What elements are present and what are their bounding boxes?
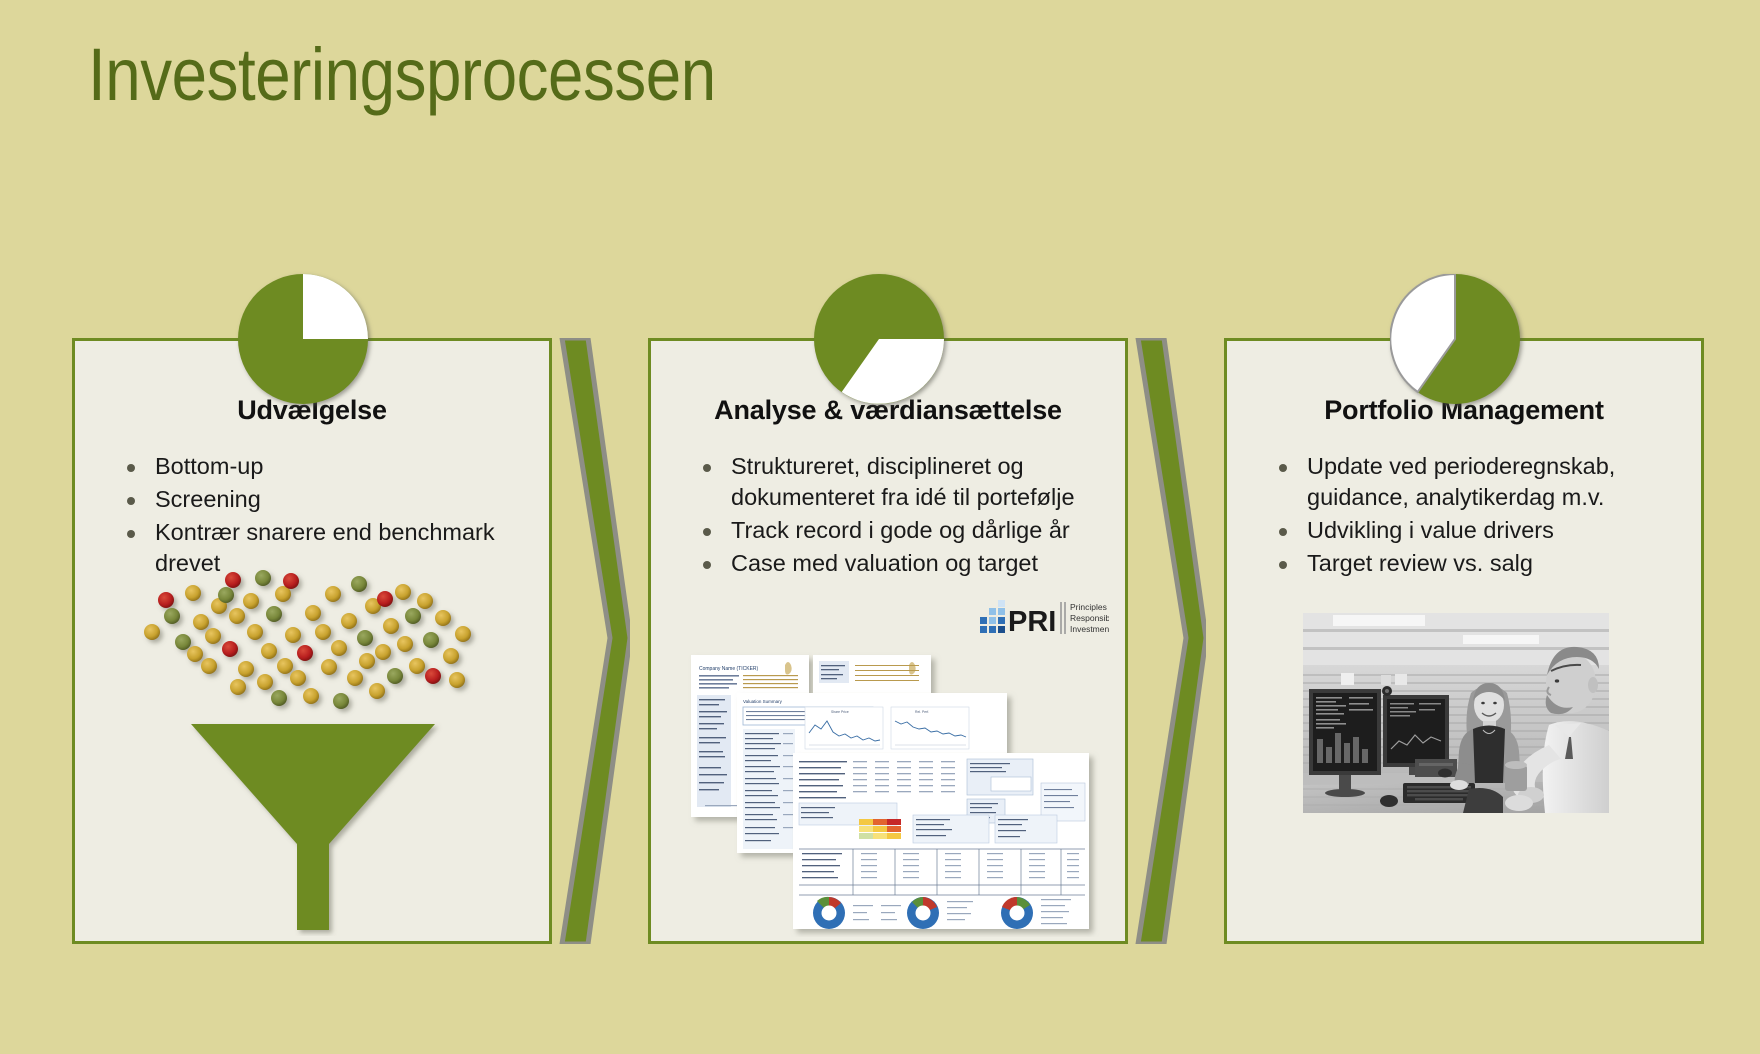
stage-pie-udvaelgelse [238, 274, 368, 404]
slide-canvas: Investeringsprocessen Udvælgelse Bottom-… [0, 0, 1760, 1054]
process-panel-analyse: Analyse & værdiansættelse Struktureret, … [648, 338, 1128, 944]
pri-tagline-line-1: Principles fo [1070, 602, 1109, 612]
chevron-right-icon [558, 338, 630, 944]
pri-logo-icon: PRI Principles fo Responsibl Investmen [979, 593, 1109, 639]
donut-chart-3 [1001, 897, 1033, 929]
donut-chart-1 [813, 897, 845, 929]
pri-blocks-icon [980, 600, 1005, 633]
svg-text:Valuation Summary: Valuation Summary [743, 699, 783, 704]
pie-chart-icon [1390, 274, 1520, 404]
bullet-list-portfolio-management: Update ved perioderegnskab, guidance, an… [1271, 451, 1679, 581]
office-photo-illustration [1303, 613, 1609, 813]
process-arrow-2 [1134, 338, 1206, 944]
stage-pie-analyse [814, 274, 944, 404]
donut-chart-2 [907, 897, 939, 929]
process-panel-portfolio-management: Portfolio Management Update ved perioder… [1224, 338, 1704, 944]
funnel-graphic [133, 556, 493, 936]
list-item: Struktureret, disciplineret og dokumente… [695, 451, 1103, 513]
pri-wordmark: PRI [1008, 606, 1056, 638]
list-item: Update ved perioderegnskab, guidance, an… [1271, 451, 1679, 513]
pie-chart-icon [814, 274, 944, 404]
process-panel-udvaelgelse: Udvælgelse Bottom-up Screening Kontrær s… [72, 338, 552, 944]
list-item: Screening [119, 484, 527, 515]
list-item: Bottom-up [119, 451, 527, 482]
svg-text:Company Name (TICKER): Company Name (TICKER) [699, 666, 759, 672]
svg-text:Share Price: Share Price [831, 710, 849, 714]
bullet-list-analyse: Struktureret, disciplineret og dokumente… [695, 451, 1103, 581]
list-item: Track record i gode og dårlige år [695, 515, 1103, 546]
office-photo [1303, 613, 1609, 813]
process-arrow-1 [558, 338, 630, 944]
page-title: Investeringsprocessen [88, 38, 716, 112]
list-item: Udvikling i value drivers [1271, 515, 1679, 546]
stage-pie-portfolio-management [1390, 274, 1520, 404]
pri-tagline-line-3: Investmen [1070, 624, 1109, 634]
documents-montage-graphic: Company Name (TICKER) [681, 637, 1101, 937]
pri-logo: PRI Principles fo Responsibl Investmen [979, 593, 1109, 639]
chevron-right-icon [1134, 338, 1206, 944]
funnel-icon [133, 556, 493, 936]
svg-text:Rel. Perf.: Rel. Perf. [915, 710, 929, 714]
pri-tagline-line-2: Responsibl [1070, 613, 1109, 623]
list-item: Target review vs. salg [1271, 548, 1679, 579]
list-item: Case med valuation og target [695, 548, 1103, 579]
spreadsheet-docs-icon: Company Name (TICKER) [681, 637, 1101, 937]
pie-chart-icon [238, 274, 368, 404]
